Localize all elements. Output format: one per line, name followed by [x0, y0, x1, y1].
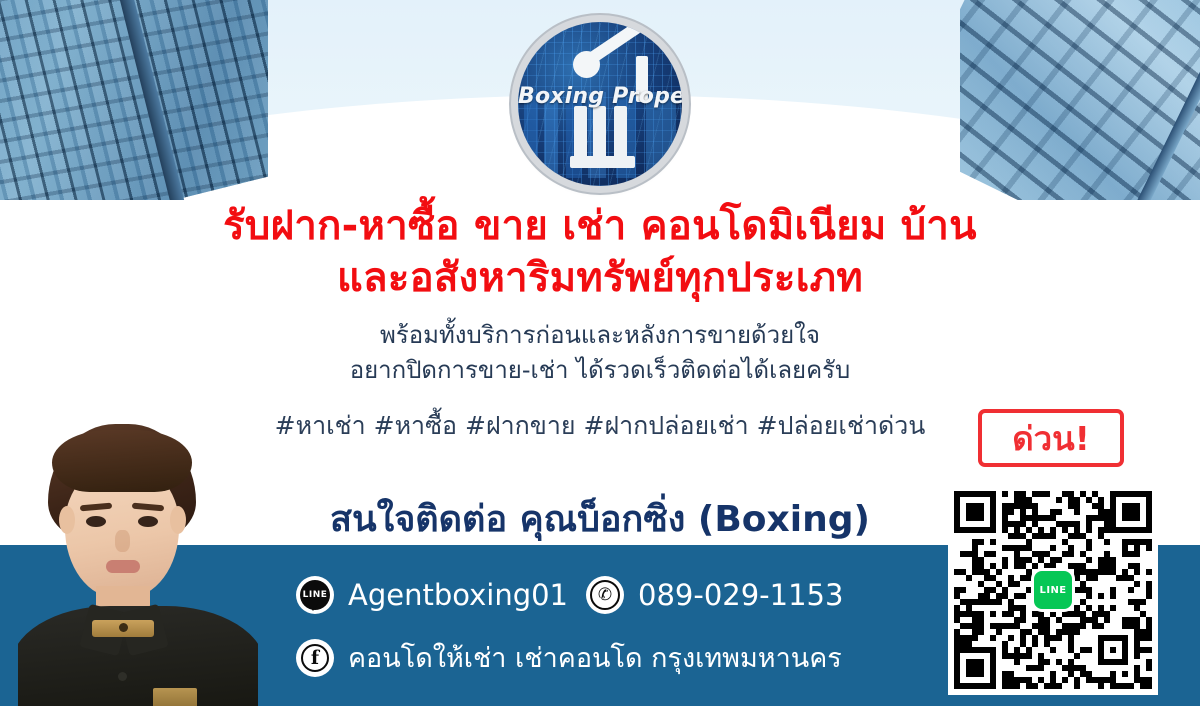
phone-number-text: 089-029-1153 [638, 578, 843, 612]
headline: รับฝาก-หาซื้อ ขาย เช่า คอนโดมิเนียม บ้าน… [0, 200, 1200, 304]
logo-text: Boxing Property [518, 84, 682, 109]
headline-line-2: และอสังหาริมทรัพย์ทุกประเภท [0, 252, 1200, 304]
headline-line-1: รับฝาก-หาซื้อ ขาย เช่า คอนโดมิเนียม บ้าน [223, 203, 977, 249]
phone-icon-glyph: ✆ [590, 580, 620, 610]
phone-icon[interactable]: ✆ [586, 576, 624, 614]
urgent-stamp: ด่วน! [978, 409, 1124, 467]
subtitle-line-1: พร้อมทั้งบริการก่อนและหลังการขายด้วยใจ [0, 318, 1200, 353]
logo-base [570, 156, 635, 168]
line-icon[interactable]: LINE [296, 576, 334, 614]
building-right-photo [960, 0, 1200, 200]
portrait-fringe [52, 430, 192, 492]
portrait-ear-left [59, 506, 75, 534]
promotional-poster: Boxing Property รับฝาก-หาซื้อ ขาย เช่า ค… [0, 0, 1200, 706]
subtitle-line-2: อยากปิดการขาย-เช่า ได้รวดเร็วติดต่อได้เล… [0, 353, 1200, 388]
portrait-button-2 [118, 672, 127, 681]
facebook-icon-glyph: f [301, 644, 329, 672]
portrait-eye-left [86, 516, 106, 527]
line-qr-code[interactable]: LINE [948, 485, 1158, 695]
qr-line-badge: LINE [1031, 568, 1075, 612]
portrait-button-1 [119, 623, 128, 632]
line-id-text: Agentboxing01 [348, 578, 568, 612]
contact-row-line-phone: LINE Agentboxing01 ✆ 089-029-1153 [296, 576, 843, 614]
subtitle: พร้อมทั้งบริการก่อนและหลังการขายด้วยใจ อ… [0, 318, 1200, 388]
portrait-nose [115, 530, 130, 552]
agent-portrait [18, 410, 258, 706]
brand-logo: Boxing Property [518, 22, 682, 186]
portrait-name-badge [153, 688, 197, 706]
urgent-stamp-label: ด่วน! [1012, 412, 1090, 465]
facebook-page-text: คอนโดให้เช่า เช่าคอนโด กรุงเทพมหานคร [348, 636, 842, 679]
line-icon-tail [308, 604, 318, 611]
contact-row-facebook: f คอนโดให้เช่า เช่าคอนโด กรุงเทพมหานคร [296, 636, 842, 679]
portrait-mouth [106, 560, 140, 573]
facebook-icon[interactable]: f [296, 639, 334, 677]
portrait-eye-right [138, 516, 158, 527]
portrait-ear-right [170, 506, 186, 534]
building-left-photo [0, 0, 268, 200]
